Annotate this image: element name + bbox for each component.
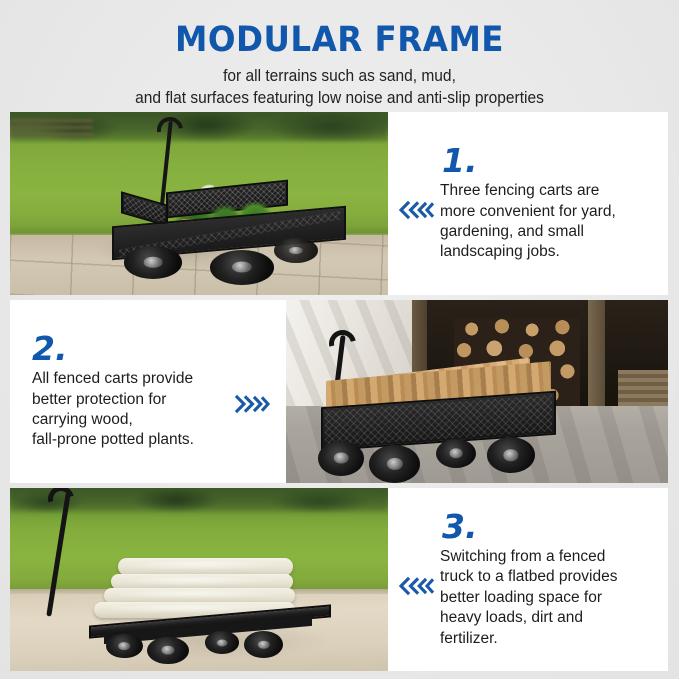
cart-wheel [124,246,183,279]
feature-text-panel-2: 2. All fenced carts provide better prote… [10,300,286,483]
cart-wheel [244,631,283,658]
feature-row-3: 3. Switching from a fenced truck to a fl… [10,488,668,671]
feature-row-2: 2. All fenced carts provide better prote… [10,300,668,483]
product-photo-flatbed-cart [10,488,388,671]
feature-number-2: 2. [32,332,274,365]
feature-text-panel-1: 1. Three fencing carts are more convenie… [388,112,668,295]
header: MODULAR FRAME for all terrains such as s… [0,0,679,109]
firewood-cart [305,348,572,476]
cart-wheel [205,631,239,653]
cart-wheel [147,637,188,665]
feature-text-3: Switching from a fenced truck to a flatb… [440,547,656,649]
chevron-left-icon [397,576,435,596]
subtitle-line-1: for all terrains such as sand, mud, [20,66,658,88]
feature-text-panel-3: 3. Switching from a fenced truck to a fl… [388,488,668,671]
garden-cart [112,178,346,277]
feature-row-1: 1. Three fencing carts are more convenie… [10,112,668,295]
chevron-right-icon [234,394,272,414]
cart-wheel [274,238,319,263]
cart-wheel [487,437,535,473]
cart-wheel [210,250,273,285]
shed-post [588,300,605,413]
feature-text-1: Three fencing carts are more convenient … [440,181,656,263]
feature-number-1: 1. [442,144,656,177]
subtitle-line-2: and flat surfaces featuring low noise an… [20,88,658,110]
wooden-fence [10,119,93,135]
cart-wheel [369,445,420,483]
product-photo-garden-cart [10,112,388,295]
page-title: MODULAR FRAME [24,22,655,59]
cart-wheel [106,634,142,658]
page-subtitle: for all terrains such as sand, mud, and … [20,66,658,110]
cart-wheel [436,439,476,468]
flatbed-cart [89,554,331,660]
feature-number-3: 3. [442,510,656,543]
chevron-left-icon [397,200,435,220]
feature-rows: 1. Three fencing carts are more convenie… [10,112,668,676]
product-photo-firewood-cart [286,300,668,483]
cart-wheel [318,441,363,476]
